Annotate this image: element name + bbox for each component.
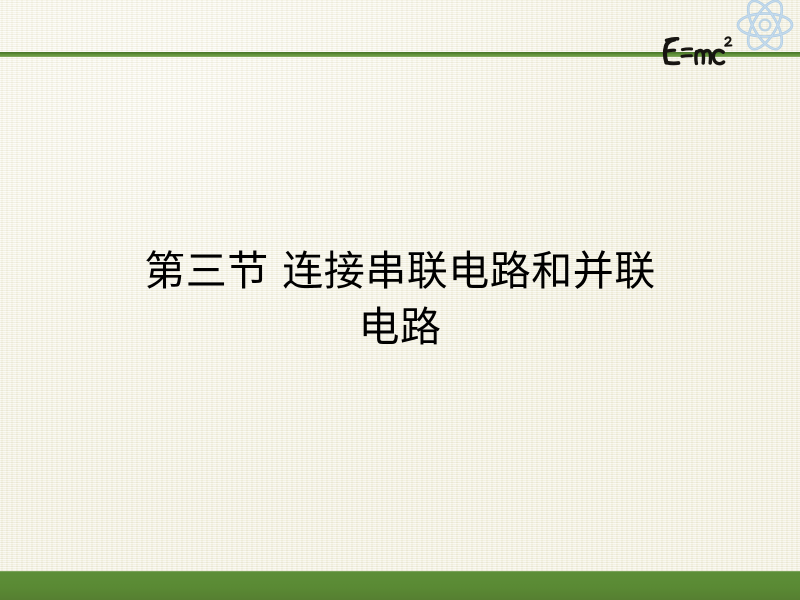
footer-band — [0, 571, 800, 600]
atom-icon — [731, 0, 799, 58]
footer-band-highlight — [0, 571, 800, 572]
emc2-formula-icon — [657, 30, 737, 72]
slide-title-line-2: 电路 — [60, 300, 740, 355]
slide-title-line-1: 第三节 连接串联电路和并联 — [60, 244, 740, 299]
slide-canvas: 第三节 连接串联电路和并联 电路 — [0, 0, 800, 600]
slide-title: 第三节 连接串联电路和并联 电路 — [60, 244, 740, 355]
